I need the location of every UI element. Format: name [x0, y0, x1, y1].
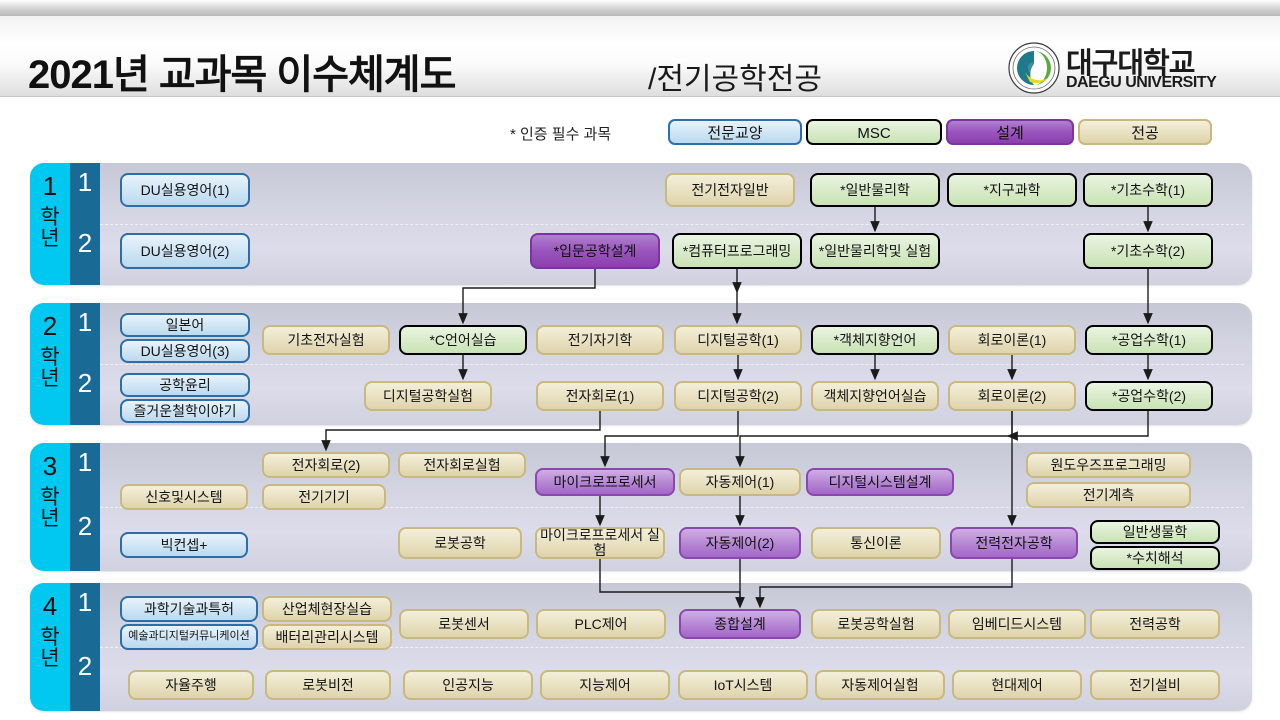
course-box[interactable]: 과학기술과특허	[120, 596, 258, 622]
semester-divider	[100, 364, 1244, 365]
course-label: 로봇센서	[438, 617, 490, 632]
course-box[interactable]: 디지털공학(1)	[674, 325, 802, 355]
year-word-bottom: 년	[40, 367, 59, 390]
course-label: 전력공학	[1129, 617, 1181, 632]
course-label: 인공지능	[442, 678, 494, 693]
semester-number-1: 1	[70, 167, 100, 198]
course-box[interactable]: *일반물리학	[810, 173, 940, 207]
course-box[interactable]: 산업체현장실습	[262, 596, 392, 622]
top-gradient-bar	[0, 0, 1280, 16]
course-box[interactable]: 마이크로프로세서 실험	[535, 527, 665, 559]
legend-item-label: 전공	[1131, 125, 1159, 142]
year-word-bottom: 년	[40, 507, 59, 530]
course-box[interactable]: *기초수학(1)	[1083, 173, 1213, 207]
course-box[interactable]: *공업수학(2)	[1085, 381, 1213, 411]
course-label: 원도우즈프로그래밍	[1051, 458, 1167, 473]
course-label: 전기설비	[1129, 678, 1181, 693]
course-label: *C언어실습	[429, 333, 496, 348]
course-box[interactable]: 예술과디지털커뮤니케이션	[120, 624, 258, 650]
course-label: 산업체현장실습	[282, 602, 372, 617]
year-word: 학년	[30, 627, 70, 670]
semester-number-1: 1	[70, 587, 100, 618]
course-label: 디지털시스템설계	[828, 475, 931, 490]
course-label: 자동제어실험	[841, 678, 918, 693]
course-label: 로봇공학실험	[837, 617, 914, 632]
legend-note: * 인증 필수 과목	[510, 123, 611, 144]
legend-item-label: 전문교양	[707, 125, 762, 142]
course-box[interactable]: 공학윤리	[120, 373, 250, 397]
course-box[interactable]: 임베디드시스템	[948, 609, 1086, 639]
course-label: 임베디드시스템	[972, 617, 1062, 632]
year-word: 학년	[30, 347, 70, 390]
course-box[interactable]: 배터리관리시스템	[262, 624, 392, 650]
course-box[interactable]: 로봇공학실험	[811, 609, 941, 639]
course-label: DU실용영어(3)	[141, 344, 230, 359]
course-box[interactable]: 종합설계	[679, 609, 801, 639]
course-box[interactable]: 전기설비	[1090, 670, 1220, 700]
course-label: 자율주행	[165, 678, 217, 693]
course-box[interactable]: 전자회로(1)	[536, 381, 664, 411]
year-word-bottom: 년	[40, 227, 59, 250]
course-box[interactable]: *일반물리학및 실험	[810, 233, 940, 269]
semester-divider	[100, 224, 1244, 225]
course-box[interactable]: 회로이론(1)	[948, 325, 1076, 355]
course-label: 디지털공학(2)	[697, 389, 779, 404]
year-number: 1	[30, 171, 70, 202]
course-box[interactable]: *기초수학(2)	[1083, 233, 1213, 269]
course-label: *공업수학(2)	[1112, 389, 1186, 404]
semester-number-1: 1	[70, 307, 100, 338]
course-label: 회로이론(2)	[978, 389, 1047, 404]
course-box[interactable]: 통신이론	[811, 527, 941, 559]
course-box[interactable]: *컴퓨터프로그래밍	[672, 233, 802, 269]
course-box[interactable]: 전력전자공학	[950, 527, 1078, 559]
course-box[interactable]: 전기기기	[262, 484, 386, 510]
year-number: 4	[30, 591, 70, 622]
course-box[interactable]: IoT시스템	[678, 670, 808, 700]
course-label: IoT시스템	[714, 678, 773, 693]
page-subtitle: /전기공학전공	[648, 54, 822, 98]
course-label: 회로이론(1)	[978, 333, 1047, 348]
course-label: 일본어	[166, 318, 205, 333]
year-word-top: 학	[40, 626, 59, 649]
course-box[interactable]: DU실용영어(3)	[120, 339, 250, 363]
course-label: 배터리관리시스템	[275, 630, 378, 645]
course-label: *지구과학	[984, 183, 1041, 198]
year-number: 2	[30, 311, 70, 342]
course-label: *공업수학(1)	[1112, 333, 1186, 348]
legend-item-gen: 전문교양	[668, 119, 802, 145]
year-word-top: 학	[40, 486, 59, 509]
course-box[interactable]: 회로이론(2)	[948, 381, 1076, 411]
course-label: 로봇비전	[302, 678, 354, 693]
course-box[interactable]: 인공지능	[403, 670, 533, 700]
course-label: *수치해석	[1127, 551, 1184, 566]
legend-item-label: 설계	[996, 125, 1024, 142]
course-box[interactable]: 현대제어	[952, 670, 1082, 700]
course-box[interactable]: 디지털공학(2)	[674, 381, 802, 411]
course-label: DU실용영어(1)	[141, 183, 230, 198]
course-box[interactable]: *지구과학	[947, 173, 1077, 207]
course-label: 과학기술과특허	[144, 602, 234, 617]
course-box[interactable]: *입문공학설계	[530, 233, 660, 269]
course-box[interactable]: DU실용영어(2)	[120, 233, 250, 269]
course-label: 마이크로프로세서 실험	[539, 528, 661, 557]
legend-item-major: 전공	[1078, 119, 1212, 145]
course-label: *일반물리학	[840, 183, 910, 198]
course-label: 즐거운철학이야기	[133, 404, 236, 419]
course-label: 신호및시스템	[145, 490, 222, 505]
course-box[interactable]: PLC제어	[536, 609, 666, 639]
course-label: 통신이론	[850, 536, 902, 551]
year-word: 학년	[30, 207, 70, 250]
semester-number-2: 2	[70, 368, 100, 399]
course-box[interactable]: DU실용영어(1)	[120, 173, 250, 207]
course-label: 자동제어(1)	[706, 475, 775, 490]
course-box[interactable]: 자동제어(1)	[679, 468, 801, 496]
course-box[interactable]: 로봇비전	[265, 670, 391, 700]
year-word: 학년	[30, 487, 70, 530]
semester-number-2: 2	[70, 511, 100, 542]
course-box[interactable]: *공업수학(1)	[1085, 325, 1213, 355]
course-box[interactable]: 마이크로프로세서	[535, 468, 675, 496]
course-box[interactable]: 로봇센서	[399, 609, 529, 639]
course-label: 일반생물학	[1123, 525, 1187, 540]
title-bar: 2021년 교과목 이수체계도 /전기공학전공 대구대학교 DAEGU UNIV…	[0, 16, 1280, 97]
course-label: *컴퓨터프로그래밍	[683, 244, 792, 259]
course-label: 예술과디지털커뮤니케이션	[128, 631, 249, 643]
course-label: DU실용영어(2)	[141, 244, 230, 259]
course-label: 전력전자공학	[975, 536, 1052, 551]
legend-item-msc: MSC	[806, 119, 942, 145]
course-label: 로봇공학	[434, 536, 486, 551]
legend-item-design: 설계	[946, 119, 1074, 145]
course-label: 디지털공학실험	[383, 389, 473, 404]
course-label: PLC제어	[575, 617, 628, 632]
course-label: 종합설계	[714, 617, 766, 632]
year-word-top: 학	[40, 206, 59, 229]
course-label: 공학윤리	[159, 378, 211, 393]
course-label: *객체지향언어	[834, 333, 917, 348]
course-label: 마이크로프로세서	[553, 475, 656, 490]
course-box[interactable]: 일본어	[120, 313, 250, 337]
university-logo: 대구대학교 DAEGU UNIVERSITY	[1008, 42, 1258, 94]
course-label: 전기전자일반	[691, 183, 768, 198]
course-box[interactable]: *객체지향언어	[811, 325, 939, 355]
course-box[interactable]: 신호및시스템	[120, 484, 248, 510]
course-box[interactable]: 전력공학	[1090, 609, 1220, 639]
course-box[interactable]: 일반생물학	[1090, 520, 1220, 544]
course-label: 자동제어(2)	[706, 536, 775, 551]
course-box[interactable]: 원도우즈프로그래밍	[1026, 452, 1191, 478]
year-number: 3	[30, 451, 70, 482]
university-name-en: DAEGU UNIVERSITY	[1066, 74, 1216, 92]
year-word-top: 학	[40, 346, 59, 369]
course-box[interactable]: 전기자기학	[536, 325, 664, 355]
course-box[interactable]: 전기전자일반	[665, 173, 795, 207]
course-box[interactable]: 로봇공학	[398, 527, 522, 559]
semester-number-2: 2	[70, 651, 100, 682]
course-label: 현대제어	[991, 678, 1043, 693]
course-label: 전자회로(2)	[292, 458, 361, 473]
course-label: *입문공학설계	[554, 244, 637, 259]
course-label: 전자회로(1)	[566, 389, 635, 404]
course-box[interactable]: *수치해석	[1090, 546, 1220, 570]
course-label: 디지털공학(1)	[697, 333, 779, 348]
course-box[interactable]: 디지털공학실험	[364, 381, 492, 411]
course-box[interactable]: 디지털시스템설계	[806, 468, 954, 496]
year-word-bottom: 년	[40, 647, 59, 670]
course-label: *기초수학(2)	[1111, 244, 1185, 259]
course-box[interactable]: 전자회로(2)	[262, 452, 390, 478]
daegu-university-emblem-icon	[1008, 42, 1060, 94]
course-box[interactable]: 자동제어(2)	[679, 527, 801, 559]
course-label: 전자회로실험	[423, 458, 500, 473]
course-box[interactable]: *C언어실습	[399, 325, 527, 355]
course-box[interactable]: 자동제어실험	[815, 670, 945, 700]
course-box[interactable]: 자율주행	[128, 670, 254, 700]
course-label: *기초수학(1)	[1111, 183, 1185, 198]
course-box[interactable]: 전자회로실험	[398, 452, 526, 478]
semester-number-1: 1	[70, 447, 100, 478]
legend-item-label: MSC	[857, 125, 890, 142]
course-label: *일반물리학및 실험	[819, 244, 931, 259]
course-label: 빅컨셉+	[161, 538, 208, 553]
course-box[interactable]: 전기계측	[1026, 482, 1191, 508]
course-label: 기초전자실험	[287, 333, 364, 348]
course-label: 전기기기	[298, 490, 350, 505]
course-box[interactable]: 빅컨셉+	[120, 532, 248, 558]
course-label: 전기자기학	[568, 333, 632, 348]
course-label: 전기계측	[1083, 488, 1135, 503]
course-box[interactable]: 기초전자실험	[262, 325, 390, 355]
course-box[interactable]: 지능제어	[540, 670, 670, 700]
course-box[interactable]: 즐거운철학이야기	[120, 399, 250, 423]
page-title: 2021년 교과목 이수체계도	[28, 42, 455, 100]
course-label: 객체지향언어실습	[823, 389, 926, 404]
course-box[interactable]: 객체지향언어실습	[811, 381, 939, 411]
semester-number-2: 2	[70, 228, 100, 259]
course-label: 지능제어	[579, 678, 631, 693]
